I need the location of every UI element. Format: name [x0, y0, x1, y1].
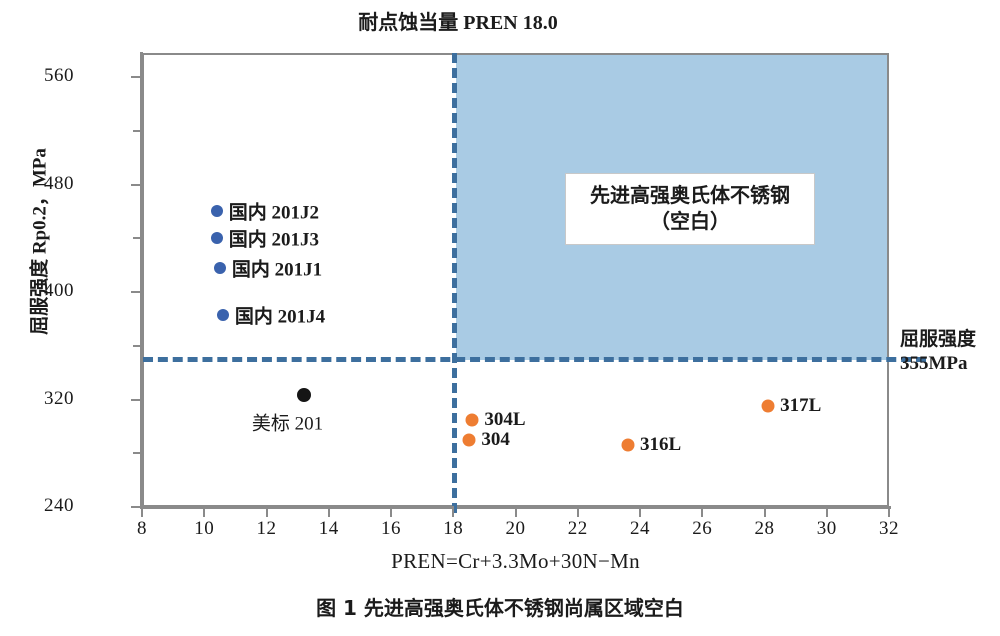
y-tick-label: 240	[14, 495, 74, 517]
x-tick-label: 24	[618, 518, 662, 540]
data-point-marker	[214, 262, 226, 274]
data-point-marker	[761, 400, 774, 413]
x-tick-major	[203, 506, 205, 517]
figure-container: 耐点蚀当量 PREN 18.0 先进高强奥氏体不锈钢 （空白） 屈服强度 355…	[0, 0, 1000, 636]
x-tick-label: 32	[867, 518, 911, 540]
x-tick-major	[452, 506, 454, 517]
x-tick-label: 22	[556, 518, 600, 540]
y-tick-major	[131, 76, 142, 78]
data-point-label: 国内 201J1	[232, 254, 322, 281]
data-point-marker	[217, 309, 229, 321]
data-point-marker	[297, 388, 311, 402]
data-point-marker	[211, 232, 223, 244]
x-tick-major	[826, 506, 828, 517]
x-tick-major	[701, 506, 703, 517]
x-tick-label: 8	[120, 518, 164, 540]
x-tick-major	[764, 506, 766, 517]
data-point-label: 国内 201J3	[229, 225, 319, 252]
x-tick-label: 20	[494, 518, 538, 540]
yield-threshold-line	[143, 357, 926, 362]
data-point-marker	[211, 205, 223, 217]
callout-line-1: 先进高强奥氏体不锈钢	[590, 183, 790, 209]
figure-caption: 图 1 先进高强奥氏体不锈钢尚属区域空白	[0, 592, 1000, 621]
x-tick-label: 28	[743, 518, 787, 540]
x-axis-title: PREN=Cr+3.3Mo+30N−Mn	[142, 549, 889, 574]
x-tick-label: 26	[680, 518, 724, 540]
y-tick-minor	[133, 237, 142, 239]
callout-line-2: （空白）	[650, 209, 730, 235]
y-tick-minor	[133, 345, 142, 347]
x-tick-major	[328, 506, 330, 517]
x-tick-major	[515, 506, 517, 517]
x-tick-label: 10	[182, 518, 226, 540]
data-point-marker	[621, 439, 634, 452]
y-tick-label: 560	[14, 65, 74, 87]
y-tick-major	[131, 291, 142, 293]
blank-region-callout: 先进高强奥氏体不锈钢 （空白）	[565, 173, 815, 245]
x-tick-label: 16	[369, 518, 413, 540]
data-point-label: 316L	[640, 434, 681, 456]
x-tick-major	[141, 506, 143, 517]
data-point-label: 美标 201	[252, 409, 323, 436]
x-tick-major	[888, 506, 890, 517]
y-axis-title: 屈服强度 Rp0.2，MPa	[25, 112, 52, 372]
data-point-marker	[465, 413, 478, 426]
x-tick-label: 18	[431, 518, 475, 540]
y-tick-label: 320	[14, 388, 74, 410]
x-tick-major	[390, 506, 392, 517]
data-point-label: 国内 201J2	[229, 198, 319, 225]
x-tick-major	[639, 506, 641, 517]
x-tick-major	[266, 506, 268, 517]
pren-threshold-annotation: 耐点蚀当量 PREN 18.0	[258, 6, 658, 35]
data-point-label: 304L	[484, 409, 525, 431]
yield-annotation-line-1: 屈服强度	[900, 328, 998, 352]
y-tick-minor	[133, 452, 142, 454]
data-point-marker	[462, 433, 475, 446]
data-point-label: 国内 201J4	[235, 301, 325, 328]
x-tick-label: 12	[245, 518, 289, 540]
yield-annotation-line-2: 355MPa	[900, 352, 998, 376]
y-tick-major	[131, 399, 142, 401]
pren-threshold-line	[452, 53, 457, 513]
data-point-label: 304	[481, 429, 510, 451]
x-tick-label: 30	[805, 518, 849, 540]
y-tick-minor	[133, 130, 142, 132]
x-tick-label: 14	[307, 518, 351, 540]
yield-threshold-annotation: 屈服强度 355MPa	[900, 328, 998, 376]
data-point-label: 317L	[780, 395, 821, 417]
y-axis-line	[140, 52, 143, 508]
x-tick-major	[577, 506, 579, 517]
y-tick-major	[131, 184, 142, 186]
